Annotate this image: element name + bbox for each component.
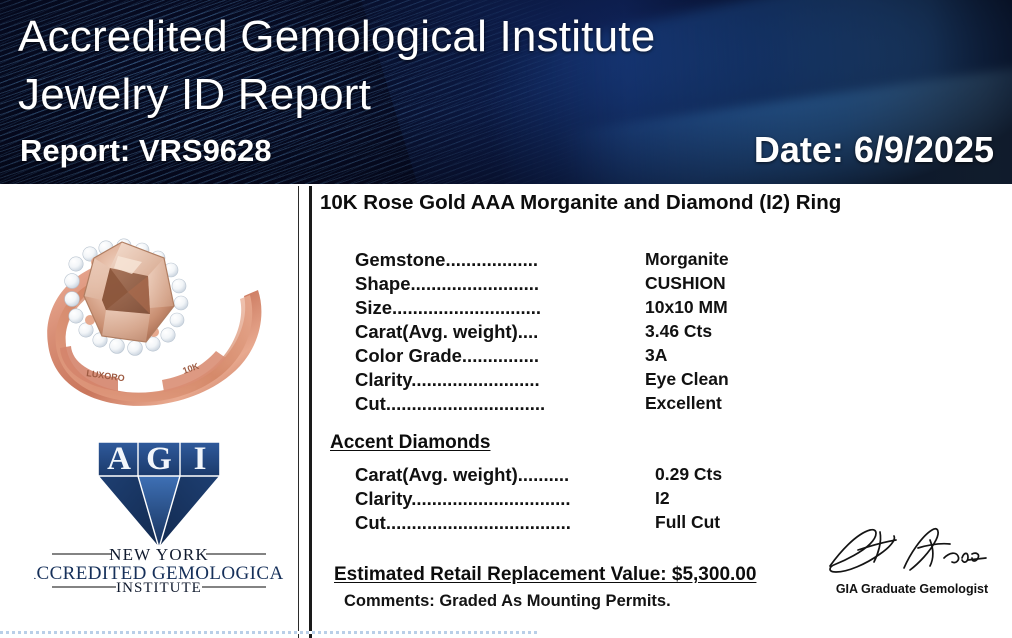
spec-value: 10x10 MM <box>645 297 728 318</box>
column-divider-thick <box>309 186 312 638</box>
agi-logo: A G I NEW YORK ACCREDITED GEMOLOGICAL IN… <box>34 432 284 592</box>
report-date: Date: 6/9/2025 <box>754 129 994 171</box>
accent-spec-label: Clarity............................... <box>355 488 571 510</box>
logo-letter-g: G <box>146 441 172 477</box>
accent-spec-label: Cut.................................... <box>355 512 571 534</box>
certificate-document: Accredited Gemological Institute Jewelry… <box>0 0 1012 638</box>
spec-row: Clarity......................... Eye Cle… <box>355 369 785 393</box>
spec-value: 3A <box>645 345 667 366</box>
estimated-retail-value: Estimated Retail Replacement Value: $5,3… <box>334 564 756 586</box>
spec-label: Clarity......................... <box>355 369 540 391</box>
spec-label: Carat(Avg. weight).... <box>355 321 538 343</box>
page-title: Accredited Gemological Institute Jewelry… <box>18 8 655 124</box>
signature-caption: GIA Graduate Gemologist <box>822 582 1002 596</box>
logo-wordmark-line-3: INSTITUTE <box>116 580 202 592</box>
logo-letter-a: A <box>107 441 131 477</box>
accent-spec-row: Clarity............................... I… <box>355 488 785 512</box>
spec-row: Gemstone.................. Morganite <box>355 249 785 273</box>
spec-label: Shape......................... <box>355 273 539 295</box>
report-number: Report: VRS9628 <box>20 133 272 169</box>
gemologist-signature-block: GIA Graduate Gemologist <box>818 524 1008 604</box>
accent-diamonds-spec-list: Carat(Avg. weight).......... 0.29 Cts Cl… <box>355 464 785 536</box>
column-divider-thin <box>298 186 299 638</box>
accent-diamonds-heading: Accent Diamonds <box>330 432 490 454</box>
accent-spec-value: 0.29 Cts <box>655 464 722 485</box>
spec-value: Excellent <box>645 393 722 414</box>
page-title-line-1: Accredited Gemological Institute <box>18 12 655 61</box>
report-header-banner: Accredited Gemological Institute Jewelry… <box>0 0 1012 184</box>
logo-letter-i: I <box>194 441 207 477</box>
accent-spec-label: Carat(Avg. weight).......... <box>355 464 569 486</box>
spec-row: Color Grade............... 3A <box>355 345 785 369</box>
spec-label: Size............................. <box>355 297 541 319</box>
center-gemstone <box>84 242 174 342</box>
spec-label: Gemstone.................. <box>355 249 538 271</box>
spec-row: Shape......................... CUSHION <box>355 273 785 297</box>
accent-spec-row: Carat(Avg. weight).......... 0.29 Cts <box>355 464 785 488</box>
spec-value: CUSHION <box>645 273 726 294</box>
spec-value: Eye Clean <box>645 369 729 390</box>
agi-logo-illustration: A G I NEW YORK ACCREDITED GEMOLOGICAL IN… <box>34 432 284 592</box>
signature-icon <box>818 524 993 579</box>
gemstone-spec-list: Gemstone.................. Morganite Sha… <box>355 249 785 417</box>
accent-spec-row: Cut.................................... … <box>355 512 785 536</box>
accent-spec-value: I2 <box>655 488 670 509</box>
logo-wordmark-line-1: NEW YORK <box>109 545 209 564</box>
spec-label: Color Grade............... <box>355 345 539 367</box>
bottom-dotted-rule <box>0 631 540 634</box>
page-title-line-2: Jewelry ID Report <box>18 66 655 124</box>
spec-value: 3.46 Cts <box>645 321 712 342</box>
spec-row: Cut............................... Excel… <box>355 393 785 417</box>
item-description-title: 10K Rose Gold AAA Morganite and Diamond … <box>320 191 841 215</box>
ring-photograph: LUXORO 10K <box>14 196 296 414</box>
accent-spec-value: Full Cut <box>655 512 720 533</box>
comments-line: Comments: Graded As Mounting Permits. <box>344 592 671 611</box>
spec-row: Size............................. 10x10 … <box>355 297 785 321</box>
spec-value: Morganite <box>645 249 729 270</box>
ring-illustration: LUXORO 10K <box>14 196 296 414</box>
spec-label: Cut............................... <box>355 393 545 415</box>
spec-row: Carat(Avg. weight).... 3.46 Cts <box>355 321 785 345</box>
